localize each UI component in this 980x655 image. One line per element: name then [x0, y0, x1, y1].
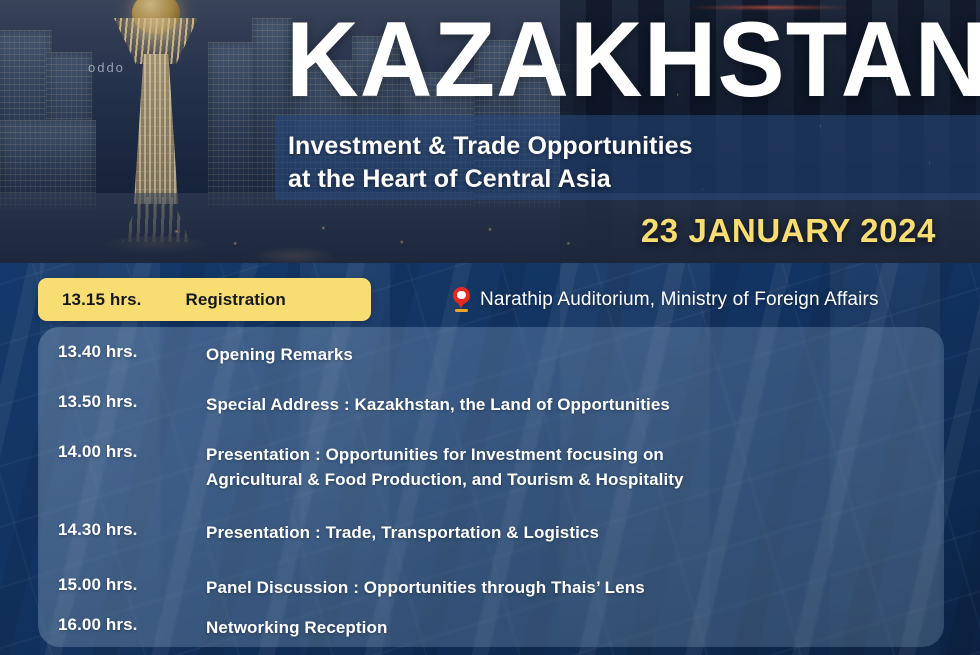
registration-row: 13.15 hrs. Registration [38, 278, 371, 321]
agenda-row: 14.30 hrs. Presentation : Trade, Transpo… [38, 520, 944, 545]
agenda-row: 16.00 hrs. Networking Reception [38, 615, 944, 640]
agenda-row: 13.40 hrs. Opening Remarks [38, 342, 944, 367]
agenda-title: Opening Remarks [206, 342, 353, 367]
subtitle-line-1: Investment & Trade Opportunities [288, 132, 693, 160]
registration-time: 13.15 hrs. [62, 290, 141, 310]
agenda-row: 14.00 hrs. Presentation : Opportunities … [38, 442, 944, 492]
agenda-title: Presentation : Opportunities for Investm… [206, 442, 684, 492]
event-date: 23 JANUARY 2024 [641, 212, 936, 250]
agenda-title: Panel Discussion : Opportunities through… [206, 575, 645, 600]
agenda-time: 13.50 hrs. [58, 392, 206, 412]
agenda-time: 14.30 hrs. [58, 520, 206, 540]
venue-text: Narathip Auditorium, Ministry of Foreign… [480, 289, 879, 311]
poster-subtitle: Investment & Trade Opportunities at the … [288, 130, 968, 196]
agenda-time: 13.40 hrs. [58, 342, 206, 362]
subtitle-line-2: at the Heart of Central Asia [288, 163, 968, 196]
agenda-row: 13.50 hrs. Special Address : Kazakhstan,… [38, 392, 944, 417]
agenda-title: Networking Reception [206, 615, 387, 640]
venue-line: Narathip Auditorium, Ministry of Foreign… [452, 287, 879, 313]
event-poster: oppo KAZAKHSTAN Investment & Trade Oppor… [0, 0, 980, 655]
agenda-title: Presentation : Trade, Transportation & L… [206, 520, 599, 545]
agenda-panel: 13.40 hrs. Opening Remarks 13.50 hrs. Sp… [38, 327, 944, 647]
agenda-title: Special Address : Kazakhstan, the Land o… [206, 392, 670, 417]
poster-title: KAZAKHSTAN [286, 2, 880, 123]
map-pin-icon [452, 287, 471, 313]
agenda-row: 15.00 hrs. Panel Discussion : Opportunit… [38, 575, 944, 600]
registration-label: Registration [185, 290, 285, 310]
agenda-time: 15.00 hrs. [58, 575, 206, 595]
agenda-time: 16.00 hrs. [58, 615, 206, 635]
agenda-time: 14.00 hrs. [58, 442, 206, 462]
